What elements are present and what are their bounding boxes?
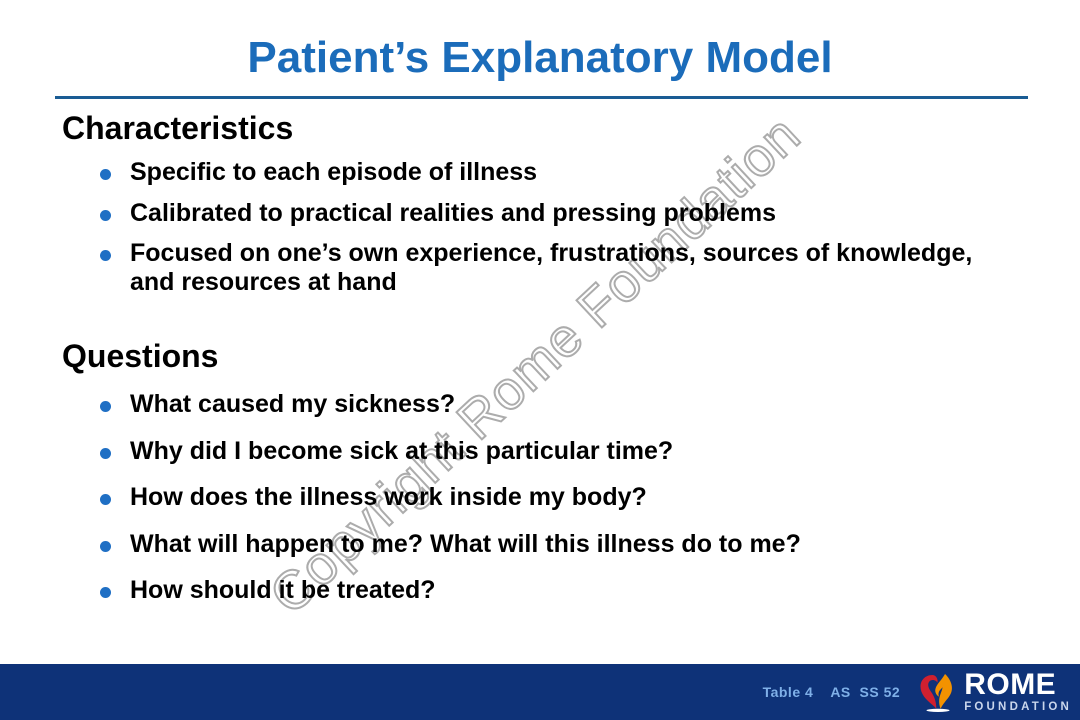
slide-canvas: Patient’s Explanatory Model Copyright Ro… xyxy=(0,0,1080,720)
bullet-dot-icon xyxy=(100,494,111,505)
list-item-label: How should it be treated? xyxy=(130,576,436,604)
bullet-dot-icon xyxy=(100,401,111,412)
list-item-label: What caused my sickness? xyxy=(130,390,455,418)
rome-foundation-logo: ROME FOUNDATION xyxy=(918,670,1072,714)
logo-wordmark: ROME FOUNDATION xyxy=(964,670,1072,714)
list-item: Focused on one’s own experience, frustra… xyxy=(0,239,1080,296)
slide-body: Characteristics Specific to each episode… xyxy=(0,112,1080,605)
section-heading-questions: Questions xyxy=(62,340,1080,372)
bullet-dot-icon xyxy=(100,169,111,180)
list-item: Calibrated to practical realities and pr… xyxy=(0,199,1080,228)
bullet-dot-icon xyxy=(100,541,111,552)
list-item: What caused my sickness? xyxy=(0,390,1080,419)
list-item: Specific to each episode of illness xyxy=(0,158,1080,187)
list-item-label: Why did I become sick at this particular… xyxy=(130,437,673,465)
page-title: Patient’s Explanatory Model xyxy=(0,33,1080,83)
list-item: How does the illness work inside my body… xyxy=(0,483,1080,512)
footer-meta-label: Table 4 AS SS 52 xyxy=(763,684,901,700)
list-item: How should it be treated? xyxy=(0,576,1080,605)
bullet-list-questions: What caused my sickness? Why did I becom… xyxy=(0,390,1080,605)
bullet-list-characteristics: Specific to each episode of illness Cali… xyxy=(0,158,1080,296)
list-item: What will happen to me? What will this i… xyxy=(0,530,1080,559)
list-item-label: Calibrated to practical realities and pr… xyxy=(130,199,776,227)
bullet-dot-icon xyxy=(100,250,111,261)
list-item-label: How does the illness work inside my body… xyxy=(130,483,647,511)
list-item-label: Specific to each episode of illness xyxy=(130,158,537,186)
section-heading-characteristics: Characteristics xyxy=(62,112,1080,144)
flame-logo-icon xyxy=(918,671,958,713)
bullet-dot-icon xyxy=(100,210,111,221)
slide-footer: Table 4 AS SS 52 ROME FOUNDATION xyxy=(0,664,1080,720)
bullet-dot-icon xyxy=(100,448,111,459)
list-item-label: Focused on one’s own experience, frustra… xyxy=(130,239,972,296)
logo-title: ROME xyxy=(964,670,1072,700)
logo-subtitle: FOUNDATION xyxy=(964,702,1072,714)
list-item-label: What will happen to me? What will this i… xyxy=(130,530,801,558)
list-item: Why did I become sick at this particular… xyxy=(0,437,1080,466)
bullet-dot-icon xyxy=(100,587,111,598)
title-divider xyxy=(55,96,1028,99)
